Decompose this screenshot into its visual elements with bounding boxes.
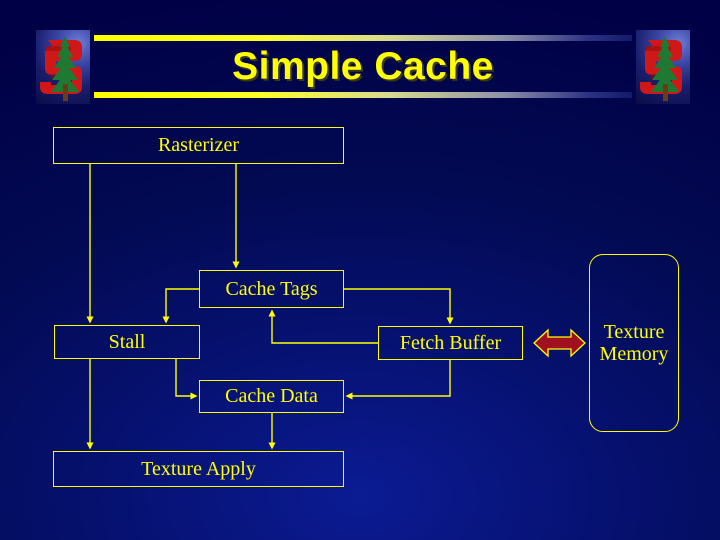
edge-cachetags-fetchbuffer — [344, 289, 450, 321]
node-stall[interactable]: Stall — [54, 325, 200, 359]
node-texture-apply[interactable]: Texture Apply — [53, 451, 344, 487]
node-label: Fetch Buffer — [400, 332, 501, 354]
edge-fetchbuffer-texturememory — [534, 330, 585, 356]
node-label: Stall — [109, 331, 146, 353]
edge-stall-cachedata — [176, 359, 194, 396]
node-label: Texture Apply — [141, 458, 256, 480]
node-label: Cache Tags — [225, 278, 317, 300]
node-label: Cache Data — [225, 385, 318, 407]
node-cache-data[interactable]: Cache Data — [199, 380, 344, 413]
node-label: Rasterizer — [158, 134, 239, 156]
edge-fetchbuffer-cachetags — [272, 313, 378, 343]
node-cache-tags[interactable]: Cache Tags — [199, 270, 344, 308]
node-label-line2: Memory — [600, 343, 669, 365]
node-rasterizer[interactable]: Rasterizer — [53, 127, 344, 164]
node-texture-memory[interactable]: Texture Memory — [589, 254, 679, 432]
edge-fetchbuffer-cachedata — [349, 360, 450, 396]
slide-canvas: Simple Cache — [0, 0, 720, 540]
node-label-line1: Texture — [604, 321, 665, 343]
node-fetch-buffer[interactable]: Fetch Buffer — [378, 326, 523, 360]
edge-cachetags-stall — [166, 289, 199, 320]
